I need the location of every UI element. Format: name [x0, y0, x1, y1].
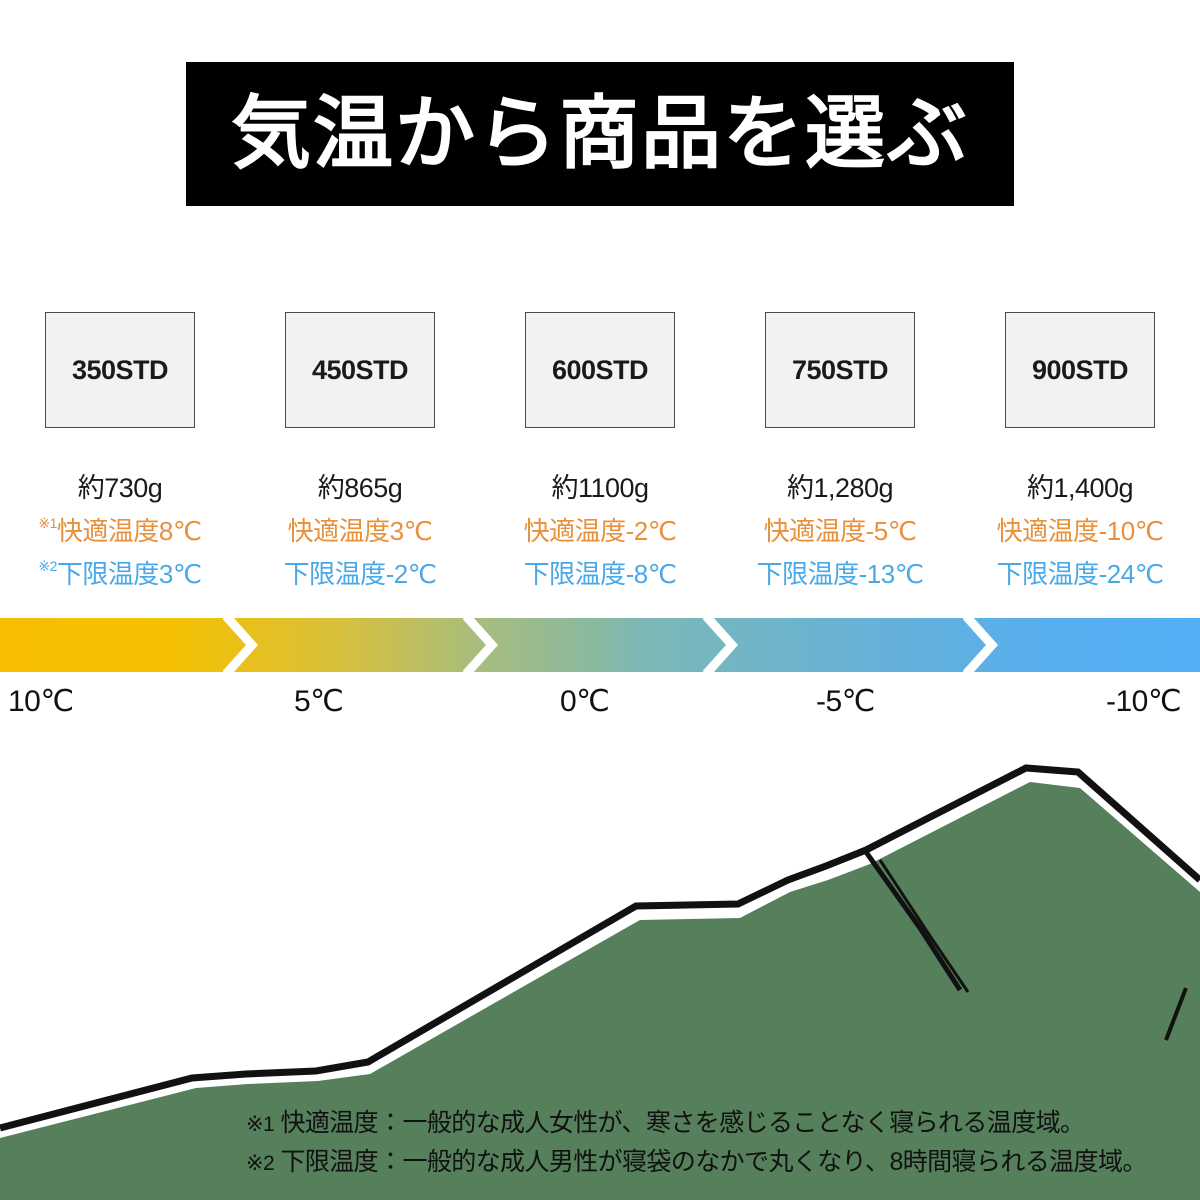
footnotes: ※1 快適温度：一般的な成人女性が、寒さを感じることなく寝られる温度域。 ※2 … — [246, 1104, 1200, 1182]
title-banner: 気温から商品を選ぶ — [186, 62, 1014, 206]
scale-label-5c: 5℃ — [294, 684, 343, 719]
footnote-1-text: 快適温度：一般的な成人女性が、寒さを感じることなく寝られる温度域。 — [280, 1109, 1084, 1137]
scale-label-10c: 10℃ — [8, 684, 74, 719]
comfort-temperature: 快適温度-10℃ — [997, 511, 1164, 548]
chevron-divider-icon — [222, 618, 258, 672]
footnote-2-mark: ※2 — [246, 1152, 274, 1175]
footnote-2: ※2 下限温度：一般的な成人男性が寝袋のなかで丸くなり、8時間寝られる温度域。 — [246, 1143, 1200, 1182]
model-label: 350STD — [72, 355, 168, 386]
limit-temperature-value: 下限温度-8℃ — [524, 559, 677, 589]
chevron-divider-icon — [702, 618, 738, 672]
product-weight: 約1100g — [551, 466, 648, 505]
product-weight: 約1,400g — [1027, 466, 1133, 505]
product-weight: 約730g — [78, 466, 163, 505]
comfort-temperature-value: 快適温度8℃ — [57, 516, 202, 546]
limit-temperature: 下限温度-2℃ — [284, 554, 437, 591]
model-chip-600std[interactable]: 600STD — [525, 312, 675, 428]
page-title: 気温から商品を選ぶ — [231, 94, 969, 174]
limit-temperature: 下限温度-8℃ — [524, 554, 677, 591]
chevron-divider-icon — [462, 618, 498, 672]
model-chip-900std[interactable]: 900STD — [1005, 312, 1155, 428]
model-label: 450STD — [312, 355, 408, 386]
model-label: 750STD — [792, 355, 888, 386]
comfort-temperature-value: 快適温度-5℃ — [764, 516, 917, 546]
limit-temperature: ※2下限温度3℃ — [38, 554, 201, 591]
limit-temperature-value: 下限温度3℃ — [57, 559, 202, 589]
comfort-temperature-value: 快適温度-2℃ — [524, 516, 677, 546]
chevron-divider-icon — [962, 618, 998, 672]
limit-temperature: 下限温度-24℃ — [997, 554, 1164, 591]
footnote-ref-2: ※2 — [38, 558, 57, 574]
comfort-temperature: 快適温度-5℃ — [764, 511, 917, 548]
model-label: 600STD — [552, 355, 648, 386]
footnote-1-mark: ※1 — [246, 1113, 274, 1136]
product-column-750std: 750STD 約1,280g 快適温度-5℃ 下限温度-13℃ — [720, 312, 960, 591]
model-chip-450std[interactable]: 450STD — [285, 312, 435, 428]
temperature-scale-labels: 10℃ 5℃ 0℃ -5℃ -10℃ — [0, 684, 1200, 730]
comfort-temperature: 快適温度3℃ — [288, 511, 433, 548]
temperature-gradient-bar — [0, 618, 1200, 672]
product-column-600std: 600STD 約1100g 快適温度-2℃ 下限温度-8℃ — [480, 312, 720, 591]
product-column-350std: 350STD 約730g ※1快適温度8℃ ※2下限温度3℃ — [0, 312, 240, 591]
product-columns: 350STD 約730g ※1快適温度8℃ ※2下限温度3℃ 450STD 約8… — [0, 312, 1200, 591]
product-column-450std: 450STD 約865g 快適温度3℃ 下限温度-2℃ — [240, 312, 480, 591]
comfort-temperature: ※1快適温度8℃ — [38, 511, 201, 548]
footnote-ref-1: ※1 — [38, 515, 57, 531]
limit-temperature-value: 下限温度-24℃ — [997, 559, 1164, 589]
comfort-temperature-value: 快適温度3℃ — [288, 516, 433, 546]
comfort-temperature: 快適温度-2℃ — [524, 511, 677, 548]
limit-temperature-value: 下限温度-13℃ — [757, 559, 924, 589]
product-column-900std: 900STD 約1,400g 快適温度-10℃ 下限温度-24℃ — [960, 312, 1200, 591]
temperature-scale: 10℃ 5℃ 0℃ -5℃ -10℃ — [0, 618, 1200, 730]
model-chip-350std[interactable]: 350STD — [45, 312, 195, 428]
footnote-2-text: 下限温度：一般的な成人男性が寝袋のなかで丸くなり、8時間寝られる温度域。 — [280, 1148, 1146, 1176]
limit-temperature: 下限温度-13℃ — [757, 554, 924, 591]
scale-label-0c: 0℃ — [560, 684, 609, 719]
scale-label-neg5c: -5℃ — [816, 684, 875, 719]
product-weight: 約865g — [318, 466, 403, 505]
model-chip-750std[interactable]: 750STD — [765, 312, 915, 428]
limit-temperature-value: 下限温度-2℃ — [284, 559, 437, 589]
scale-label-neg10c: -10℃ — [1106, 684, 1181, 719]
product-weight: 約1,280g — [787, 466, 893, 505]
comfort-temperature-value: 快適温度-10℃ — [997, 516, 1164, 546]
footnote-1: ※1 快適温度：一般的な成人女性が、寒さを感じることなく寝られる温度域。 — [246, 1104, 1200, 1143]
model-label: 900STD — [1032, 355, 1128, 386]
